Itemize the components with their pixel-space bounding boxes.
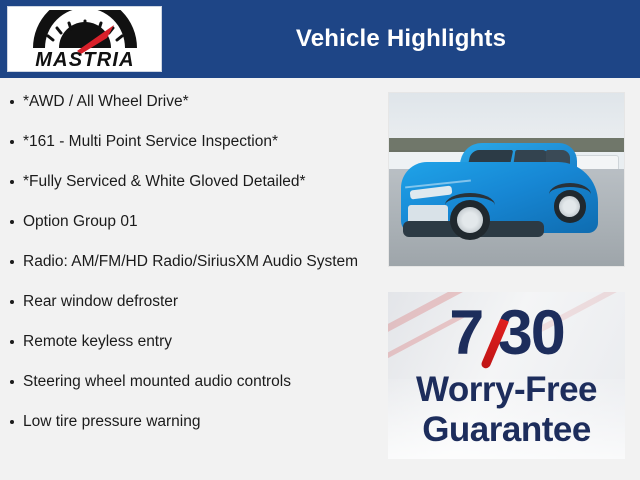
list-item: Low tire pressure warning [0, 412, 380, 432]
dealer-name: MASTRIA [35, 49, 135, 68]
speedometer-icon: MASTRIA [15, 10, 155, 68]
vehicle-highlights-page: MASTRIA Vehicle Highlights *AWD / All Wh… [0, 0, 640, 480]
car-wheel-front [450, 200, 490, 240]
list-item: Radio: AM/FM/HD Radio/SiriusXM Audio Sys… [0, 252, 380, 272]
list-item: Rear window defroster [0, 292, 380, 312]
page-title: Vehicle Highlights [162, 0, 640, 78]
list-item: *AWD / All Wheel Drive* [0, 92, 380, 112]
list-item: Remote keyless entry [0, 332, 380, 352]
page-header: MASTRIA Vehicle Highlights [0, 0, 640, 78]
worry-free-guarantee-badge[interactable]: 7 30 Worry-Free Guarantee [388, 292, 625, 459]
highlights-list: *AWD / All Wheel Drive* *161 - Multi Poi… [0, 80, 380, 452]
car-wheel-rear [554, 190, 587, 223]
dealer-logo[interactable]: MASTRIA [7, 6, 162, 72]
list-item: *161 - Multi Point Service Inspection* [0, 132, 380, 152]
list-item: Steering wheel mounted audio controls [0, 372, 380, 392]
list-item: *Fully Serviced & White Gloved Detailed* [0, 172, 380, 192]
guarantee-line-worry-free: Worry-Free [388, 370, 625, 410]
list-item: Option Group 01 [0, 212, 380, 232]
guarantee-number: 7 30 [388, 296, 625, 370]
guarantee-line-guarantee: Guarantee [388, 410, 625, 450]
vehicle-photo[interactable] [388, 92, 625, 267]
